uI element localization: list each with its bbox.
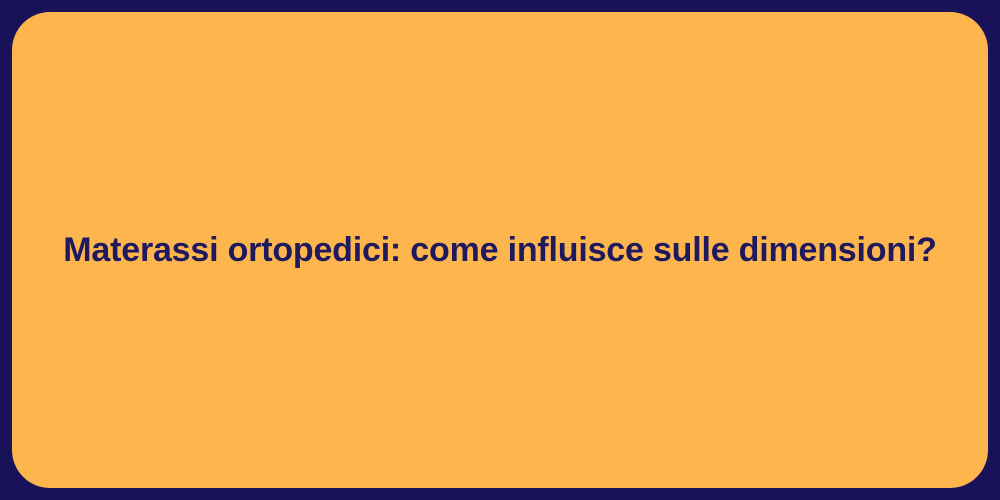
banner-panel: Materassi ortopedici: come influisce sul… (12, 12, 988, 488)
banner-frame: Materassi ortopedici: come influisce sul… (0, 0, 1000, 500)
page-title: Materassi ortopedici: come influisce sul… (23, 230, 976, 271)
